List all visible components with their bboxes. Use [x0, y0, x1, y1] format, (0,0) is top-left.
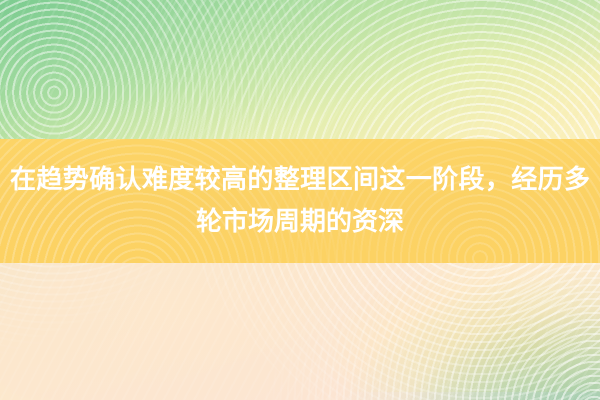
caption-text: 在趋势确认难度较高的整理区间这一阶段，经历多 轮市场周期的资深 [4, 159, 596, 243]
caption-line-2: 轮市场周期的资深 [10, 201, 590, 243]
caption-band: 在趋势确认难度较高的整理区间这一阶段，经历多 轮市场周期的资深 [0, 139, 600, 263]
banner-image: 在趋势确认难度较高的整理区间这一阶段，经历多 轮市场周期的资深 [0, 0, 600, 400]
caption-line-1: 在趋势确认难度较高的整理区间这一阶段，经历多 [10, 159, 590, 201]
